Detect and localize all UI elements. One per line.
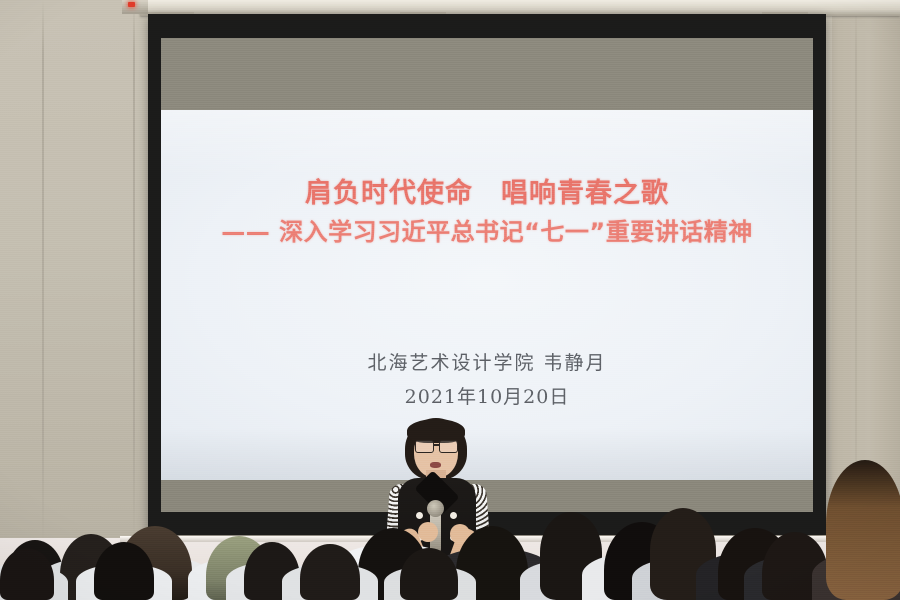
wall-seam-mid (133, 0, 135, 545)
status-led-icon (128, 2, 135, 7)
audience (0, 470, 900, 600)
slide-title: 肩负时代使命 唱响青春之歌 (161, 178, 813, 209)
wall-bracket (122, 0, 148, 14)
wall-seam-left (42, 0, 44, 545)
lecture-hall-scene: 肩负时代使命 唱响青春之歌 —— 深入学习习近平总书记“七一”重要讲话精神 北海… (0, 0, 900, 600)
glasses-lens-right (439, 440, 458, 453)
slide-date: 2021年10月20日 (161, 382, 813, 409)
presenter-mouth (430, 462, 441, 468)
slide-subtitle: —— 深入学习习近平总书记“七一”重要讲话精神 (161, 218, 813, 247)
glasses-icon (414, 440, 458, 451)
audience-head-14 (826, 460, 900, 600)
slide-author: 北海艺术设计学院 韦静月 (161, 348, 813, 375)
glasses-lens-left (415, 440, 434, 453)
